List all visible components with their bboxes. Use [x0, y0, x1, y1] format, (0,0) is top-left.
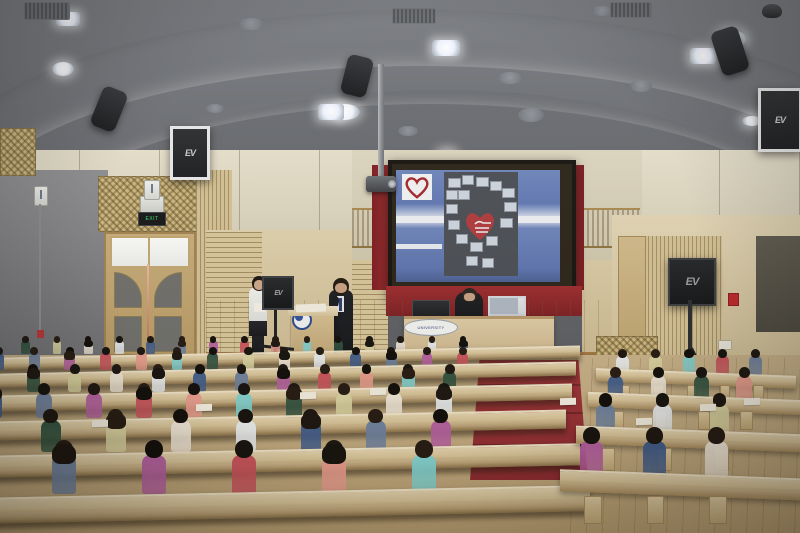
exit-sign: EXIT [138, 212, 166, 226]
desk-papers [636, 418, 652, 426]
lecture-hall-photo: EXIT EV EV [0, 0, 800, 533]
audience-member-head [684, 349, 693, 358]
ceiling-panel-light [432, 40, 460, 56]
audience-member-head [429, 336, 436, 343]
ev-logo-icon: EV [274, 290, 281, 297]
audience-member-hair [52, 444, 76, 464]
audience-member-head [241, 336, 248, 343]
audience-member-hair [386, 351, 397, 360]
audience-member-hair [271, 340, 280, 347]
desk-papers [560, 398, 576, 406]
seat-chair [647, 496, 665, 524]
exit-sign-label: EXIT [145, 216, 158, 222]
ev-speaker-wall-left: EV [170, 126, 210, 180]
ceiling-panel-light [318, 104, 344, 120]
audience-member-head [173, 409, 188, 424]
right-dark-alcove [756, 236, 800, 332]
audience-member-hair [27, 368, 40, 379]
seat-chair [698, 411, 710, 430]
presenter-face [335, 283, 347, 293]
audience-member-hair [84, 340, 93, 347]
ev-speaker-wall-right: EV [758, 88, 800, 152]
audience-member-head [238, 383, 250, 395]
desk-papers [700, 404, 716, 412]
ev-logo-icon: EV [686, 276, 699, 288]
audience-member-hair [436, 387, 452, 400]
audience-member-hair [172, 351, 183, 360]
door-transom-window [110, 236, 190, 268]
slide-band-small [396, 244, 442, 249]
audience-member-head [656, 393, 670, 407]
audience-member-head [445, 364, 455, 374]
slide-photo-collage [444, 172, 518, 276]
audience-member-head [583, 427, 600, 444]
audience-member-head [415, 440, 433, 458]
audience-member-head [368, 409, 383, 424]
wall-device [144, 180, 160, 200]
audience-member-head [708, 427, 725, 444]
desk-papers [196, 404, 212, 412]
audience-member-hair [322, 444, 346, 464]
seat-chair [584, 496, 602, 524]
projector-lens-icon [388, 180, 396, 188]
seat-chair [740, 411, 752, 430]
ceiling-downlight [518, 108, 544, 122]
ceiling-panel-light [690, 48, 716, 64]
audience-member-head [145, 440, 163, 458]
audience-member-hair [106, 413, 126, 429]
audience-member-head [112, 364, 122, 374]
desk-emblem-label: UNIVERSITY [417, 325, 444, 330]
ceiling-downlight [630, 80, 652, 92]
slide-heart-logo [402, 174, 432, 200]
audience-member-head [102, 347, 110, 355]
ev-logo-icon: EV [775, 115, 785, 125]
audience-member-hair [277, 368, 290, 379]
desk-papers [744, 398, 760, 406]
audience-member-body [86, 392, 102, 418]
ceiling-vent [392, 8, 436, 24]
fire-alarm-call-point[interactable] [728, 293, 739, 306]
audience-member-body [68, 371, 81, 392]
audience-member-head [210, 336, 217, 343]
audience-member-head [646, 427, 663, 444]
presenter-tie [339, 298, 342, 311]
audience-member-body [110, 371, 123, 392]
audience-member-head [696, 367, 707, 378]
audience-member-head [235, 440, 253, 458]
audience-member-head [237, 364, 247, 374]
audience-member-hair [365, 340, 374, 347]
audience-member-head [618, 349, 627, 358]
projection-screen [396, 170, 560, 282]
audience-member-body [232, 455, 256, 494]
audience-member-head [238, 409, 253, 424]
wall-speaker-device [34, 186, 48, 206]
audience-member-head [304, 336, 311, 343]
audience-member-head [610, 367, 621, 378]
audience-member-head [352, 347, 360, 355]
projector-drop-pole [378, 64, 384, 180]
audience-member-head [188, 383, 200, 395]
audience-member-head [244, 347, 252, 355]
lectern-papers [296, 303, 326, 312]
audience-member-head [88, 383, 100, 395]
audience-member-hair [136, 387, 152, 400]
dome-camera-icon [762, 4, 782, 18]
audience-member-body [749, 355, 762, 375]
audience-member-head [335, 336, 342, 343]
audience-member-head [397, 336, 404, 343]
perforated-acoustic-panel [0, 128, 36, 176]
audience-member-hair [402, 368, 415, 379]
audience-member-head [38, 383, 50, 395]
ceiling-downlight [498, 72, 522, 84]
audience-member-hair [178, 340, 187, 347]
ev-logo-icon: EV [185, 148, 195, 158]
audience-member-head [320, 364, 330, 374]
desk-papers [92, 420, 108, 428]
audience-member-head [195, 364, 205, 374]
ev-speaker-stage-left: EV [262, 276, 294, 310]
ceiling-downlight [206, 104, 224, 113]
seat-chair [709, 496, 727, 524]
audience-member-head [388, 383, 400, 395]
desk-university-emblem: UNIVERSITY [404, 319, 458, 336]
audience-member-body [736, 375, 751, 399]
audience-member-head [22, 336, 29, 343]
audience-member-head [116, 336, 123, 343]
audience-member-body [705, 441, 728, 477]
ev-speaker-tripod-right: EV [668, 258, 716, 306]
desk-papers [370, 388, 386, 396]
ceiling-downlight [52, 62, 74, 76]
audience-member-body [0, 352, 4, 370]
audience-member-hair [64, 351, 75, 360]
audience-member-head [70, 364, 80, 374]
audience-member-head [43, 409, 58, 424]
desk-papers [300, 392, 316, 400]
heart-outline-icon [402, 174, 432, 200]
wall-marker [37, 330, 44, 338]
ceiling-downlight [238, 18, 264, 30]
audience-member-head [459, 347, 467, 355]
audience-member-hair [152, 368, 165, 379]
audience-member-head [599, 393, 613, 407]
audience-member-head [653, 367, 664, 378]
ceiling-vent [24, 2, 70, 20]
audience-member-head [433, 409, 448, 424]
audience-member-body [142, 455, 166, 494]
audience-member-hair [279, 351, 290, 360]
ceiling-vent [610, 2, 652, 18]
cable-run [39, 204, 41, 332]
audience-member-head [316, 347, 324, 355]
ceiling-downlight [592, 6, 612, 16]
audience-member-head [718, 349, 727, 358]
technician-face [464, 293, 475, 301]
audience-member-head [147, 336, 154, 343]
audience-member-head [54, 336, 61, 343]
tripod-pole-right [688, 300, 692, 352]
slide-heart-hand-emblem [460, 208, 500, 242]
ceiling-downlight [398, 126, 418, 136]
audience-member-head [209, 347, 217, 355]
audience-member-hair [301, 413, 321, 429]
audience-member-body [171, 420, 191, 452]
audience-member-head [338, 383, 350, 395]
audience-member-head [362, 364, 372, 374]
audience-member-head [739, 367, 750, 378]
